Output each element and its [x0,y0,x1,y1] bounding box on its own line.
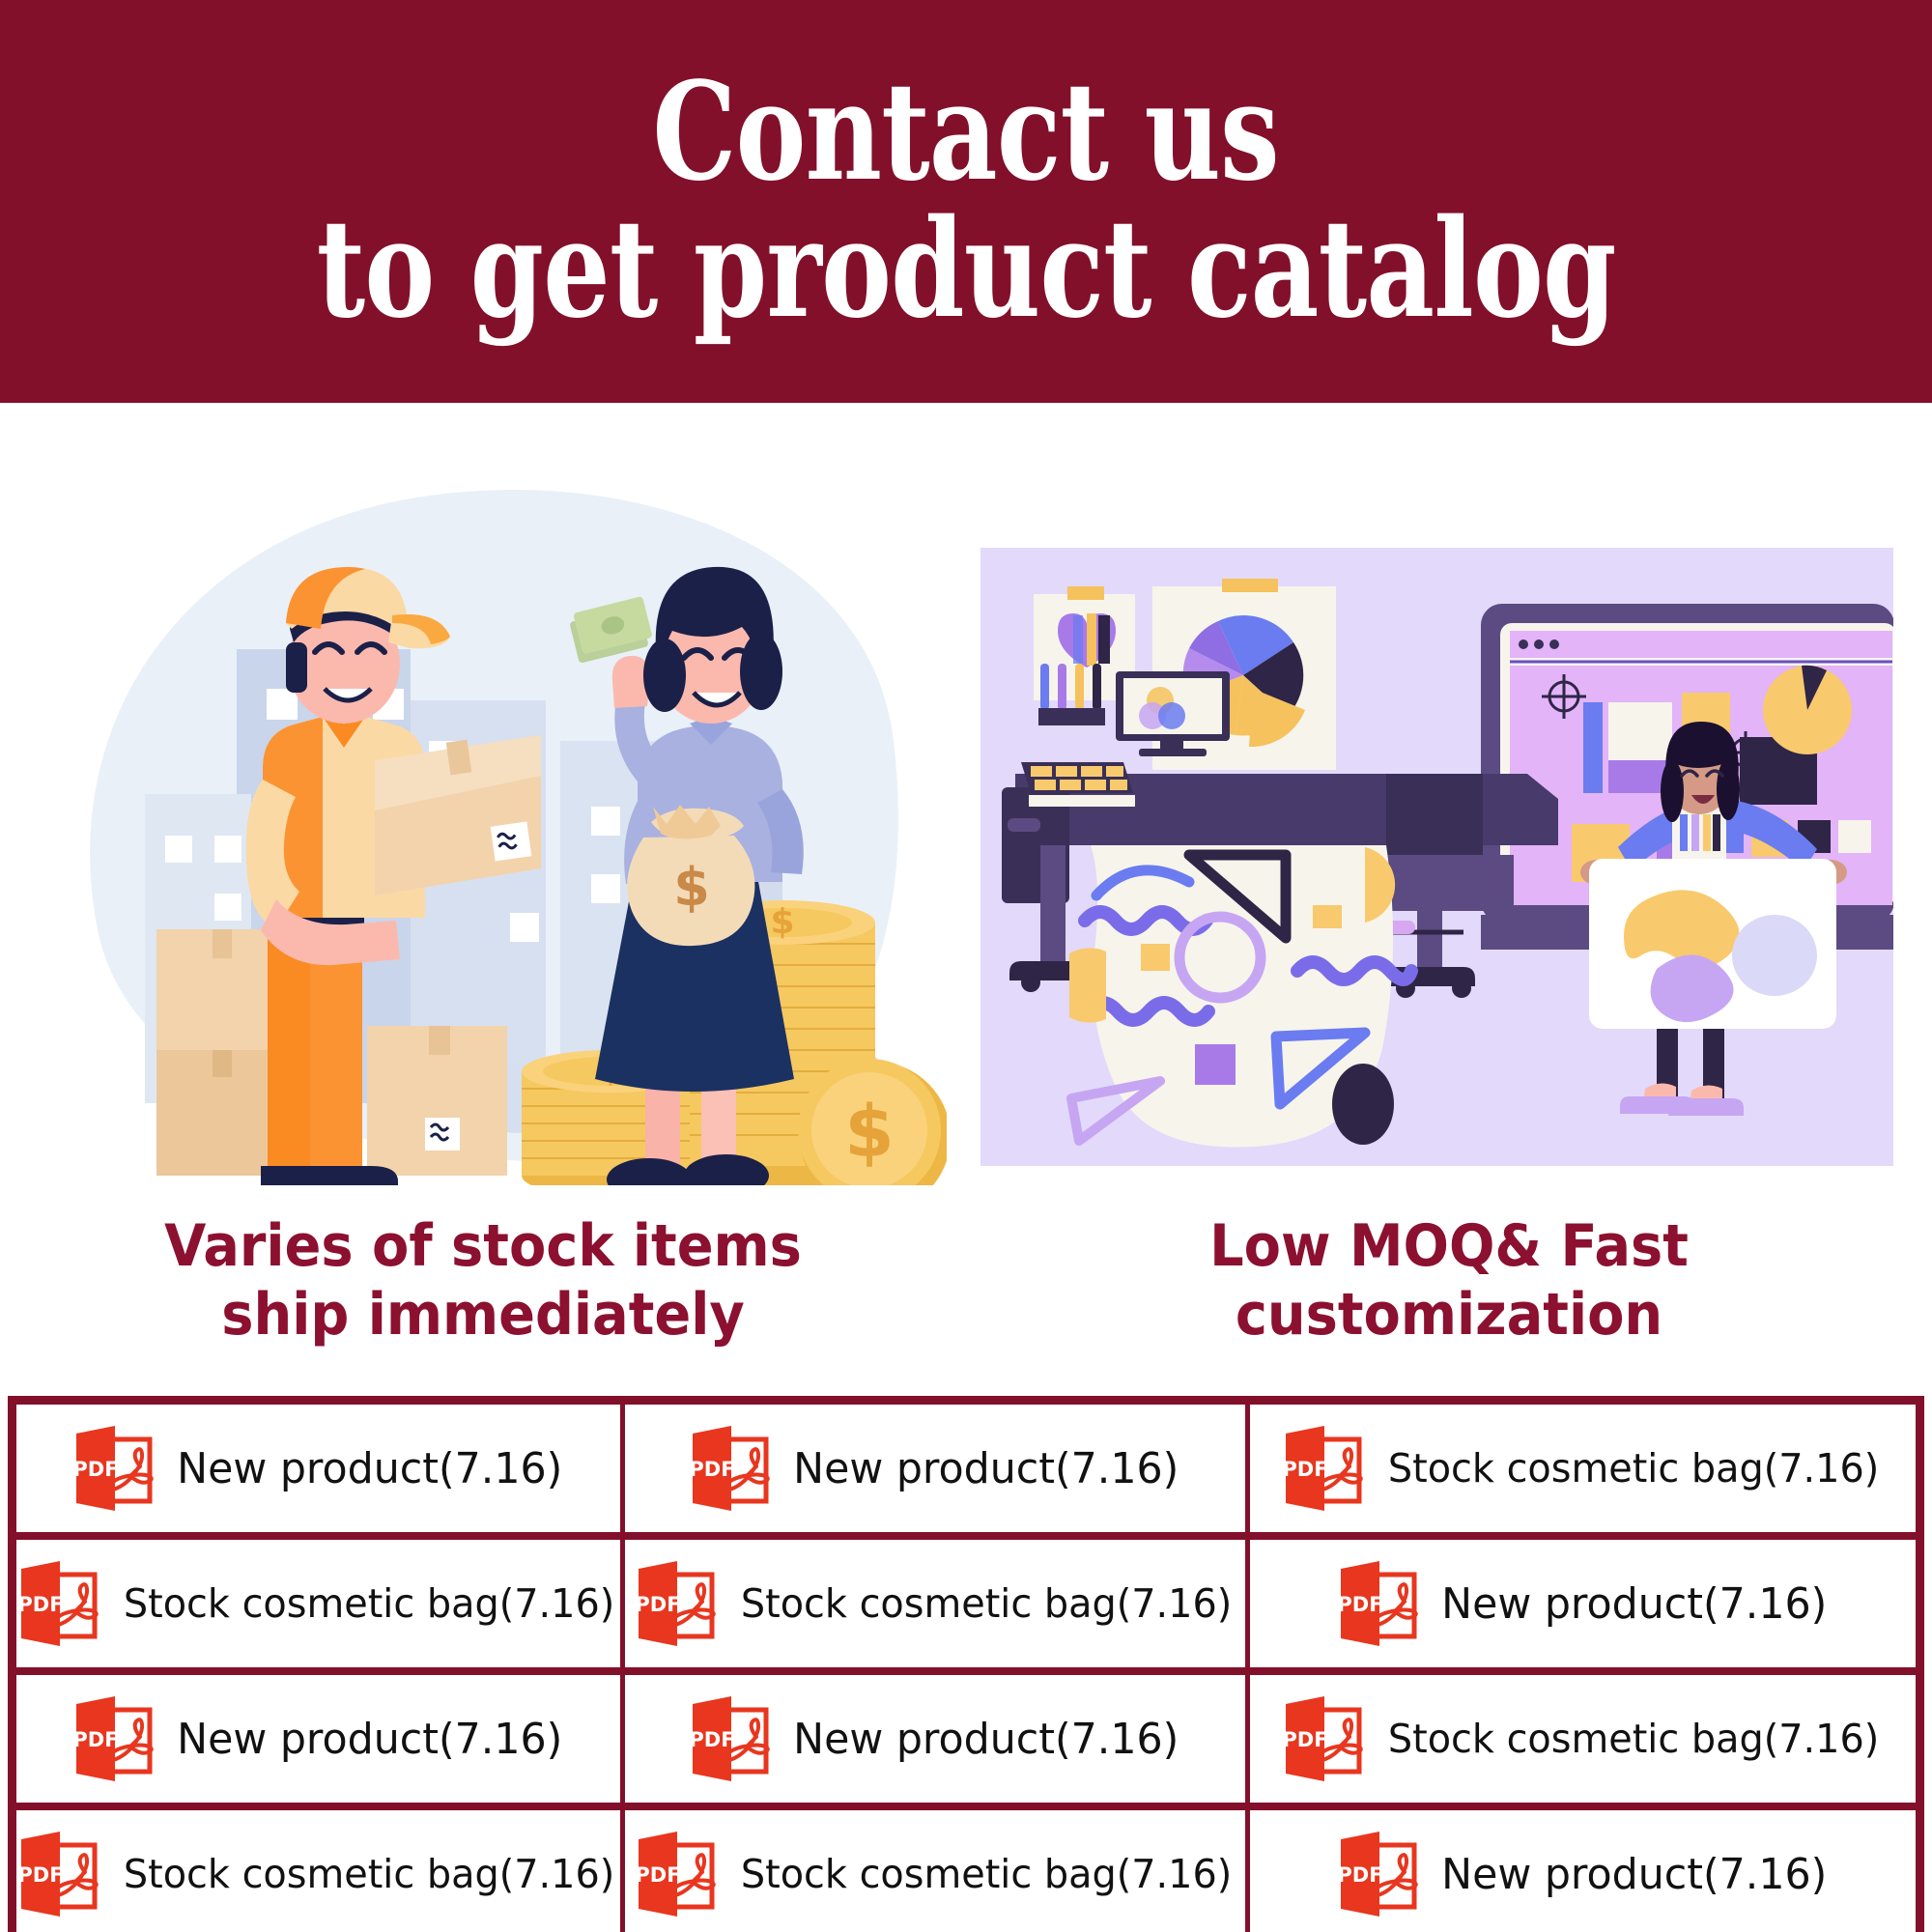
pdf-catalog-label: Stock cosmetic bag(7.16) [741,1580,1232,1627]
pdf-catalog-cell[interactable]: PDF New product(7.16) [16,1405,625,1540]
caption-right: Low MOQ& Fast customization [1000,1212,1898,1350]
feature-captions: Varies of stock items ship immediately L… [0,1212,1932,1391]
caption-left-line-2: ship immediately [34,1281,932,1350]
svg-text:PDF: PDF [635,1593,680,1616]
pdf-catalog-label: New product(7.16) [177,1715,562,1764]
pdf-catalog-cell[interactable]: PDF Stock cosmetic bag(7.16) [1250,1675,1916,1810]
pdf-catalog-cell[interactable]: PDF Stock cosmetic bag(7.16) [16,1810,625,1932]
pdf-file-icon: PDF [1278,1694,1367,1783]
caption-right-line-2: customization [1000,1281,1898,1350]
svg-text:PDF: PDF [1283,1728,1328,1751]
pdf-catalog-cell[interactable]: PDF New product(7.16) [1250,1810,1916,1932]
svg-text:PDF: PDF [72,1728,118,1751]
header-title-line-1: Contact us [653,68,1279,199]
delivery-stock-illustration: $ [19,422,947,1185]
delivery-illustration-svg: $ [19,422,947,1185]
pdf-catalog-label: New product(7.16) [1441,1579,1827,1629]
svg-text:$: $ [770,902,794,942]
header-title-line-2: to get product catalog [317,205,1616,336]
pdf-catalog-label: New product(7.16) [793,1715,1179,1764]
pdf-catalog-label: Stock cosmetic bag(7.16) [1388,1716,1879,1762]
pdf-catalog-cell[interactable]: PDF New product(7.16) [1250,1540,1916,1675]
pdf-file-icon: PDF [16,1559,102,1648]
pdf-catalog-cell[interactable]: PDF Stock cosmetic bag(7.16) [16,1540,625,1675]
svg-text:PDF: PDF [1283,1458,1328,1481]
svg-text:PDF: PDF [690,1458,735,1481]
pdf-catalog-label: Stock cosmetic bag(7.16) [124,1580,614,1627]
svg-text:PDF: PDF [18,1863,64,1887]
pdf-catalog-label: Stock cosmetic bag(7.16) [1388,1445,1879,1492]
caption-left: Varies of stock items ship immediately [34,1212,932,1350]
pdf-catalog-label: Stock cosmetic bag(7.16) [741,1851,1232,1897]
pdf-file-icon: PDF [685,1424,774,1513]
printing-customization-illustration [980,548,1893,1166]
pdf-file-icon: PDF [685,1694,774,1783]
pdf-file-icon: PDF [1278,1424,1367,1513]
pdf-file-icon: PDF [69,1424,157,1513]
pdf-catalog-label: New product(7.16) [177,1444,562,1493]
pdf-catalog-cell[interactable]: PDF Stock cosmetic bag(7.16) [1250,1405,1916,1540]
pdf-file-icon: PDF [69,1694,157,1783]
pdf-catalog-cell[interactable]: PDF Stock cosmetic bag(7.16) [625,1540,1250,1675]
pdf-catalog-label: New product(7.16) [793,1444,1179,1493]
printing-illustration-svg [980,548,1893,1166]
pdf-catalog-cell[interactable]: PDF New product(7.16) [16,1675,625,1810]
svg-text:PDF: PDF [18,1593,64,1616]
pdf-catalog-grid: PDF New product(7.16) PDF New product(7.… [8,1396,1924,1932]
pdf-file-icon: PDF [631,1559,720,1648]
banner-header: Contact us to get product catalog [0,0,1932,403]
svg-text:$: $ [844,1091,895,1174]
caption-right-line-1: Low MOQ& Fast [1000,1212,1898,1281]
svg-text:PDF: PDF [72,1458,118,1481]
caption-left-line-1: Varies of stock items [34,1212,932,1281]
pdf-catalog-cell[interactable]: PDF New product(7.16) [625,1675,1250,1810]
svg-text:PDF: PDF [1337,1593,1382,1616]
pdf-catalog-cell[interactable]: PDF New product(7.16) [625,1405,1250,1540]
svg-text:PDF: PDF [635,1863,680,1887]
pdf-catalog-label: Stock cosmetic bag(7.16) [124,1851,614,1897]
pdf-file-icon: PDF [631,1830,720,1918]
svg-text:PDF: PDF [1337,1863,1382,1887]
illustration-row: $ [0,403,1932,1205]
svg-text:PDF: PDF [690,1728,735,1751]
pdf-file-icon: PDF [1333,1830,1422,1918]
pdf-catalog-cell[interactable]: PDF Stock cosmetic bag(7.16) [625,1810,1250,1932]
promo-banner-page: Contact us to get product catalog [0,0,1932,1932]
svg-text:$: $ [673,857,710,918]
pdf-file-icon: PDF [1333,1559,1422,1648]
pdf-file-icon: PDF [16,1830,102,1918]
pdf-catalog-label: New product(7.16) [1441,1850,1827,1899]
